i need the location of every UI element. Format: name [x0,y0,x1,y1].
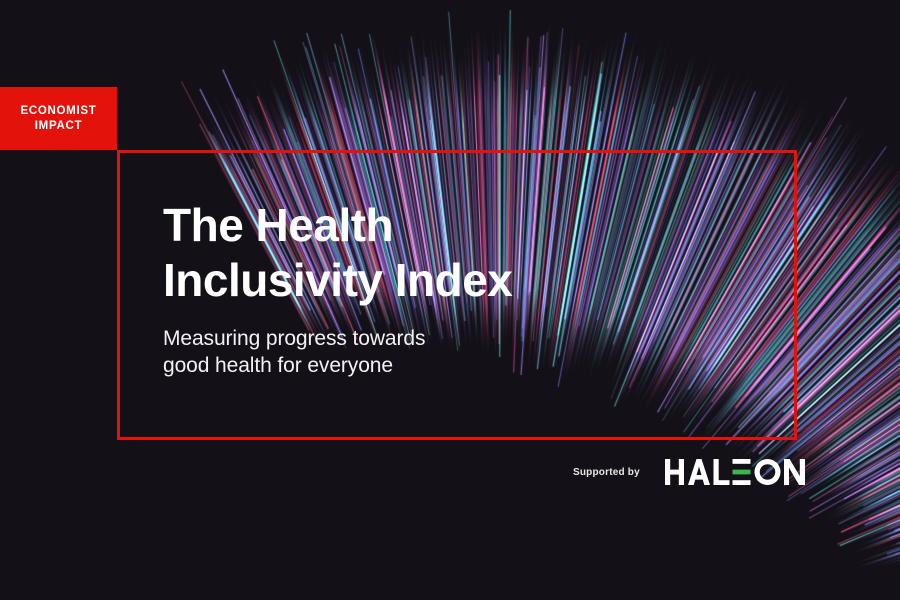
supported-by-label: Supported by [573,467,640,478]
page-subtitle-line-2: good health for everyone [163,352,583,379]
haleon-green-accent-bar [732,470,750,475]
page-subtitle-line-1: Measuring progress towards [163,325,583,352]
headline-block: The Health Inclusivity Index Measuring p… [163,198,583,379]
page-title-line-2: Inclusivity Index [163,253,583,308]
economist-impact-logo-line-1: ECONOMIST [21,104,97,119]
sponsor-row: Supported by [573,452,805,492]
economist-impact-logo[interactable]: ECONOMIST IMPACT [0,87,117,150]
page-title-line-1: The Health [163,198,583,253]
economist-impact-logo-line-2: IMPACT [35,119,82,134]
poster-canvas: ECONOMIST IMPACT The Health Inclusivity … [0,0,900,600]
subtitle-block: Measuring progress towards good health f… [163,325,583,379]
haleon-logo[interactable] [665,457,805,487]
